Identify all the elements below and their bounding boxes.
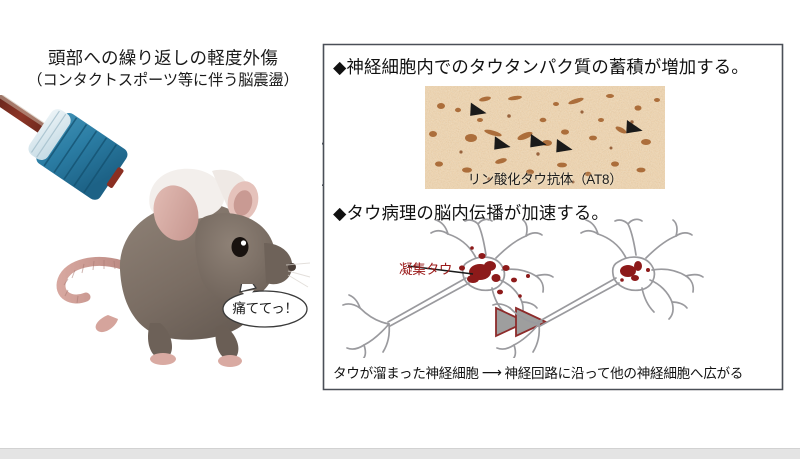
neuron-propagation-diagram bbox=[330, 218, 780, 358]
mouse-hind-foot bbox=[96, 315, 118, 332]
title-line-2: （コンタクトスポーツ等に伴う脳震盪） bbox=[8, 72, 318, 91]
mouse-front-paw bbox=[218, 355, 242, 367]
figure-canvas: 頭部への繰り返しの軽度外傷 （コンタクトスポーツ等に伴う脳震盪） bbox=[0, 0, 800, 459]
mouse-eye-glint bbox=[241, 240, 246, 245]
left-panel-title: 頭部への繰り返しの軽度外傷 （コンタクトスポーツ等に伴う脳震盪） bbox=[8, 48, 318, 91]
toy-mallet-illustration bbox=[0, 95, 134, 205]
micrograph-caption: リン酸化タウ抗体（AT8） bbox=[425, 168, 665, 188]
caption-right-text: 神経回路に沿って他の神経細胞へ広がる bbox=[504, 366, 743, 381]
mouse-rear-paw bbox=[150, 353, 176, 365]
tau-aggregate-right bbox=[620, 261, 650, 282]
panel-heading-accumulation: ◆神経細胞内でのタウタンパク質の蓄積が増加する。 bbox=[333, 54, 749, 79]
title-line-1: 頭部への繰り返しの軽度外傷 bbox=[8, 48, 318, 70]
neuron-left bbox=[343, 219, 553, 358]
neuron-right bbox=[493, 219, 703, 358]
speech-bubble: 痛ててっ！ bbox=[222, 284, 316, 330]
speech-bubble-label: 痛ててっ！ bbox=[222, 297, 308, 317]
mouse-eye bbox=[232, 237, 249, 257]
mouse-tail bbox=[61, 261, 122, 299]
speech-bubble-tail bbox=[240, 284, 256, 292]
caption-arrow-icon: ⟶ bbox=[479, 364, 505, 381]
tau-aggregate-label: 凝集タウ bbox=[399, 258, 452, 278]
caption-left-text: タウが溜まった神経細胞 bbox=[333, 366, 479, 381]
tau-aggregate-left bbox=[459, 246, 530, 298]
footer-band bbox=[0, 448, 800, 459]
mouse-front-leg bbox=[215, 325, 238, 360]
diagram-bottom-caption: タウが溜まった神経細胞⟶神経回路に沿って他の神経細胞へ広がる bbox=[333, 362, 777, 382]
mouse-snout bbox=[264, 243, 292, 284]
